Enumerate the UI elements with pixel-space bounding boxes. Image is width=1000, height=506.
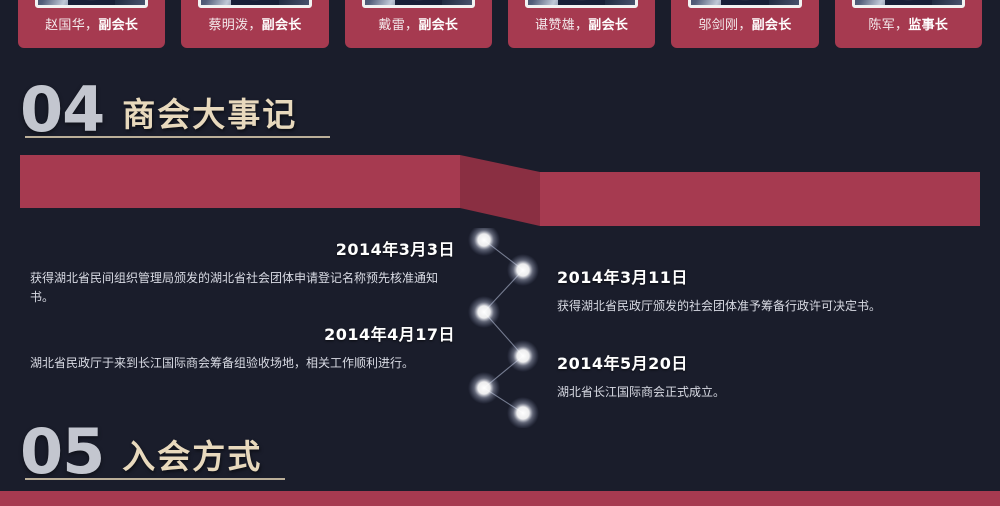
timeline-event-date: 2014年3月11日 — [557, 270, 977, 286]
leader-role: 副会长 — [418, 17, 458, 32]
timeline-event-desc: 湖北省长江国际商会正式成立。 — [557, 383, 977, 402]
section-number-04: 04 — [20, 86, 104, 134]
leader-card[interactable]: 邬剑刚，副会长 — [671, 0, 818, 48]
timeline: 2014年3月3日 获得湖北省民间组织管理局颁发的湖北省社会团体申请登记名称预先… — [0, 228, 1000, 428]
leader-name: 戴雷，副会长 — [378, 18, 458, 31]
leader-role: 副会长 — [262, 17, 302, 32]
ribbon-banner — [0, 150, 1000, 232]
leader-name: 蔡明泼，副会长 — [208, 18, 301, 31]
leader-person-name: 戴雷， — [378, 17, 418, 32]
section-underline-05 — [25, 478, 285, 480]
leader-role: 监事长 — [908, 17, 948, 32]
section-heading-04: 04 商会大事记 — [20, 86, 297, 134]
leader-card[interactable]: 蔡明泼，副会长 — [181, 0, 328, 48]
timeline-event[interactable]: 2014年3月3日 获得湖北省民间组织管理局颁发的湖北省社会团体申请登记名称预先… — [30, 242, 455, 306]
timeline-event[interactable]: 2014年4月17日 湖北省民政厅于来到长江国际商会筹备组验收场地，相关工作顺利… — [30, 327, 455, 373]
leader-card[interactable]: 赵国华，副会长 — [18, 0, 165, 48]
timeline-node-dot — [507, 397, 539, 428]
section-title-05: 入会方式 — [122, 440, 262, 476]
leader-card[interactable]: 戴雷，副会长 — [345, 0, 492, 48]
timeline-event[interactable]: 2014年5月20日 湖北省长江国际商会正式成立。 — [557, 356, 977, 402]
bottom-accent-bar — [0, 491, 1000, 506]
leader-cards-strip: 赵国华，副会长 蔡明泼，副会长 戴雷，副会长 谌赞雄，副会长 邬剑刚，副会长 陈… — [0, 0, 1000, 48]
timeline-event-desc: 湖北省民政厅于来到长江国际商会筹备组验收场地，相关工作顺利进行。 — [30, 354, 455, 373]
leader-photo — [852, 0, 965, 8]
leader-name: 陈军，监事长 — [868, 18, 948, 31]
timeline-event-date: 2014年3月3日 — [30, 242, 455, 258]
leader-role: 副会长 — [98, 17, 138, 32]
leader-person-name: 陈军， — [868, 17, 908, 32]
leader-role: 副会长 — [752, 17, 792, 32]
leader-person-name: 蔡明泼， — [208, 17, 261, 32]
leader-photo — [688, 0, 801, 8]
section-heading-05: 05 入会方式 — [20, 428, 262, 476]
leader-person-name: 赵国华， — [45, 17, 98, 32]
section-number-05: 05 — [20, 428, 104, 476]
leader-card[interactable]: 谌赞雄，副会长 — [508, 0, 655, 48]
leader-photo — [35, 0, 148, 8]
leader-photo — [198, 0, 311, 8]
leader-person-name: 邬剑刚， — [698, 17, 751, 32]
leader-name: 谌赞雄，副会长 — [535, 18, 628, 31]
timeline-node-dot — [468, 228, 500, 256]
leader-role: 副会长 — [588, 17, 628, 32]
timeline-event[interactable]: 2014年3月11日 获得湖北省民政厅颁发的社会团体准予筹备行政许可决定书。 — [557, 270, 977, 316]
ribbon-right-panel — [540, 172, 980, 226]
ribbon-shape-svg — [0, 150, 1000, 232]
leader-name: 邬剑刚，副会长 — [698, 18, 791, 31]
timeline-node-dot — [468, 296, 500, 328]
timeline-event-date: 2014年4月17日 — [30, 327, 455, 343]
timeline-event-date: 2014年5月20日 — [557, 356, 977, 372]
leader-person-name: 谌赞雄， — [535, 17, 588, 32]
timeline-node-dot — [507, 340, 539, 372]
leader-photo — [362, 0, 475, 8]
section-underline-04 — [25, 136, 330, 138]
leader-card[interactable]: 陈军，监事长 — [835, 0, 982, 48]
leader-name: 赵国华，副会长 — [45, 18, 138, 31]
leader-photo — [525, 0, 638, 8]
timeline-event-desc: 获得湖北省民间组织管理局颁发的湖北省社会团体申请登记名称预先核准通知书。 — [30, 269, 455, 306]
ribbon-fold — [460, 155, 540, 226]
timeline-event-desc: 获得湖北省民政厅颁发的社会团体准予筹备行政许可决定书。 — [557, 297, 977, 316]
timeline-node-dot — [507, 254, 539, 286]
ribbon-left-panel — [20, 155, 460, 208]
section-title-04: 商会大事记 — [122, 98, 297, 134]
timeline-node-dot — [468, 372, 500, 404]
